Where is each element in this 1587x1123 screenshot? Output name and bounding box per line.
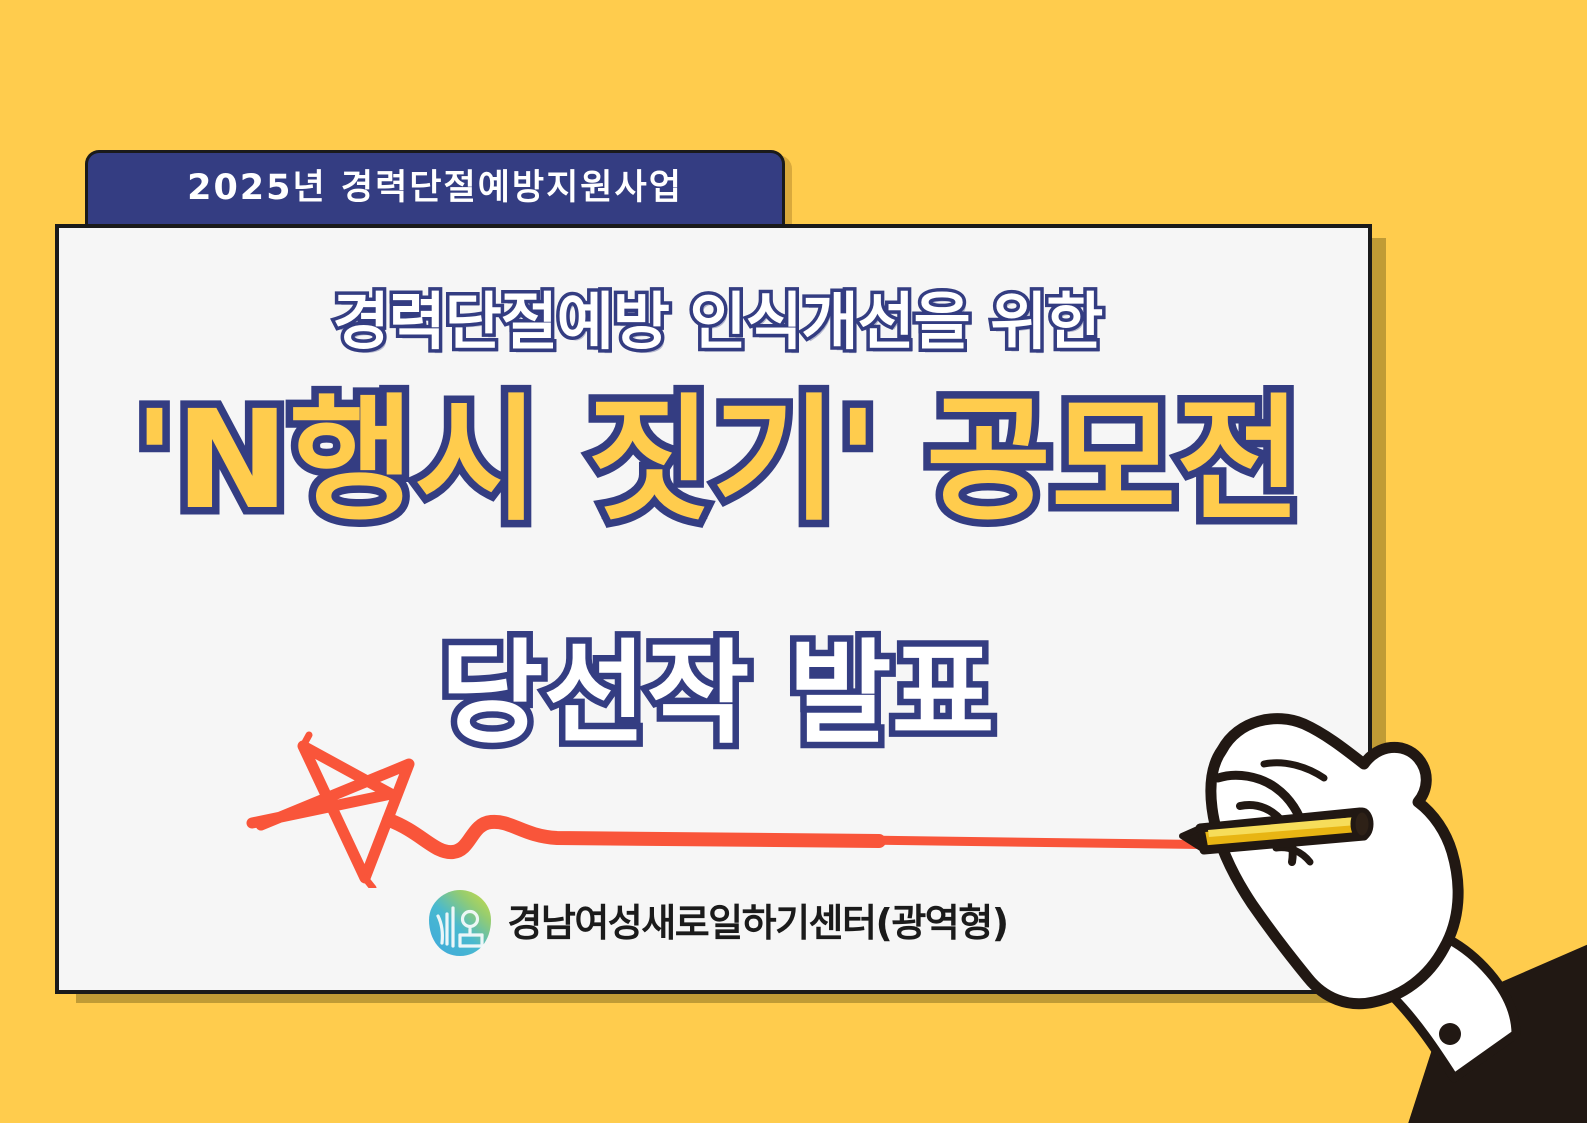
subtitle-text: 경력단절예방 인식개선을 위한 — [59, 291, 1372, 353]
swoosh-thick — [389, 820, 879, 852]
shirt-cuff — [1392, 926, 1516, 1078]
tab-label: 2025년 경력단절예방지원사업 — [187, 171, 683, 208]
saeil-logo-icon — [427, 888, 493, 958]
footer-row: 경남여성새로일하기센터(광역형) — [59, 888, 1372, 958]
organization-name: 경남여성새로일하기센터(광역형) — [507, 904, 1007, 942]
cuff-button — [1439, 1023, 1461, 1045]
swoosh-mid — [859, 840, 1314, 846]
suit-sleeve — [1406, 940, 1587, 1123]
page-title: 'N행시 짓기' 공모전 — [59, 393, 1372, 529]
program-year-tab: 2025년 경력단절예방지원사업 — [85, 150, 785, 226]
poster-canvas: 2025년 경력단절예방지원사업 경력단절예방 인식개선을 위한 'N행시 짓기… — [0, 0, 1587, 1123]
announcement-card: 경력단절예방 인식개선을 위한 'N행시 짓기' 공모전 당선작 발표 — [55, 224, 1372, 994]
swoosh-tip — [1239, 845, 1372, 848]
star-icon — [252, 735, 409, 888]
announcement-text: 당선작 발표 — [59, 638, 1372, 750]
